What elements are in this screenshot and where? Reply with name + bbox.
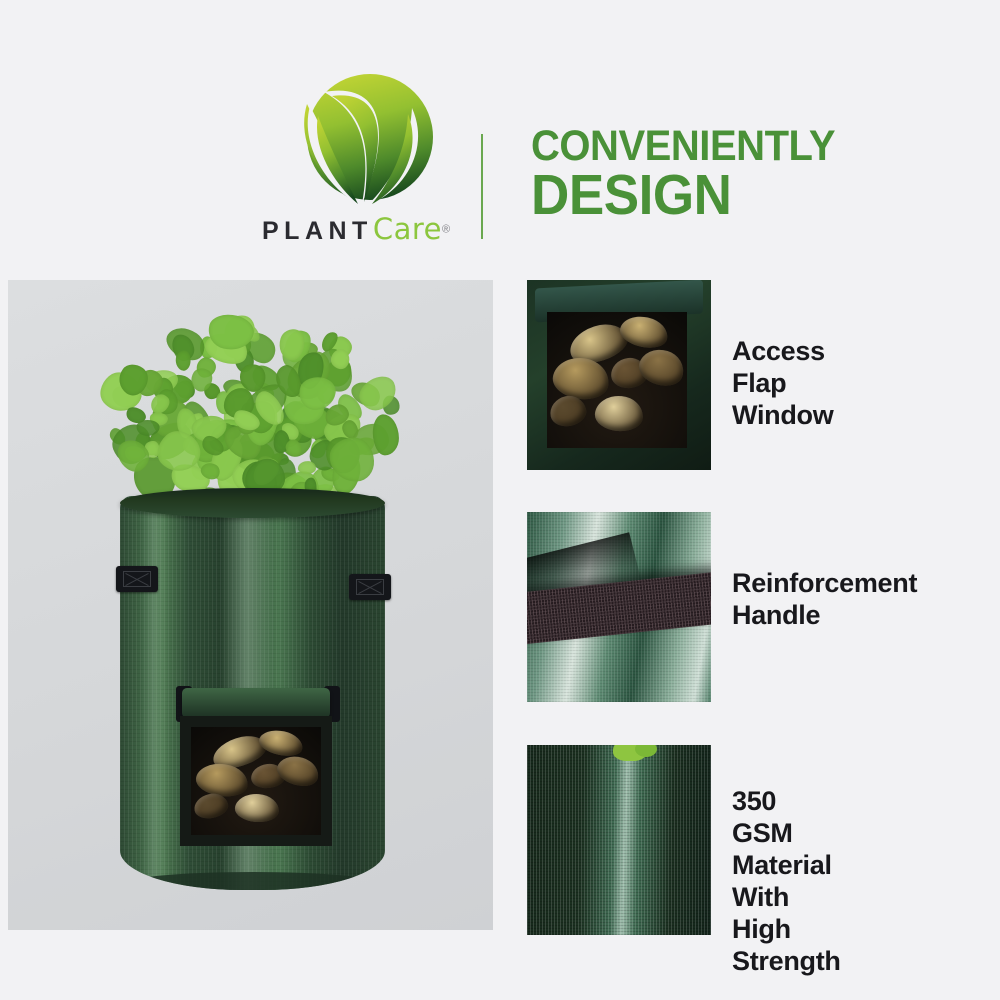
header: PLANTCare® CONVENIENTLY DESIGN	[0, 0, 1000, 272]
headline-line-2: DESIGN	[531, 166, 922, 224]
feature-label-material-strength: 350 GSM Material With High Strength	[732, 785, 841, 977]
page-title: CONVENIENTLY DESIGN	[531, 124, 951, 224]
thumbnail-material-strength	[527, 745, 711, 935]
bag-sheen-secondary	[141, 496, 168, 890]
brand-wordmark: PLANTCare®	[262, 212, 472, 248]
thumb1-window-opening	[547, 312, 687, 448]
leaf-circle-logo-icon	[294, 62, 442, 212]
wordmark-care: Care	[373, 212, 442, 246]
header-divider	[481, 134, 483, 239]
thumb3-weave-texture	[527, 745, 711, 935]
thumbnail-reinforcement-handle	[527, 512, 711, 702]
rolled-access-flap	[182, 688, 330, 718]
bag-handle-left	[116, 566, 158, 592]
hero-product-image	[8, 280, 493, 930]
thumbnail-access-flap-window	[527, 280, 711, 470]
bag-handle-right	[349, 574, 391, 600]
wordmark-plant: PLANT	[262, 217, 373, 245]
brand-lockup: PLANTCare®	[262, 62, 472, 247]
feature-label-reinforcement-handle: Reinforcement Handle	[732, 567, 917, 631]
grow-bag	[120, 478, 385, 890]
registered-trademark-icon: ®	[442, 224, 450, 236]
access-flap-window-opening	[180, 716, 332, 846]
headline-line-1: CONVENIENTLY	[531, 124, 922, 168]
feature-label-access-flap-window: Access Flap Window	[732, 335, 833, 431]
bag-rim	[120, 488, 385, 518]
bag-bottom	[124, 872, 381, 890]
leaf	[372, 414, 399, 456]
